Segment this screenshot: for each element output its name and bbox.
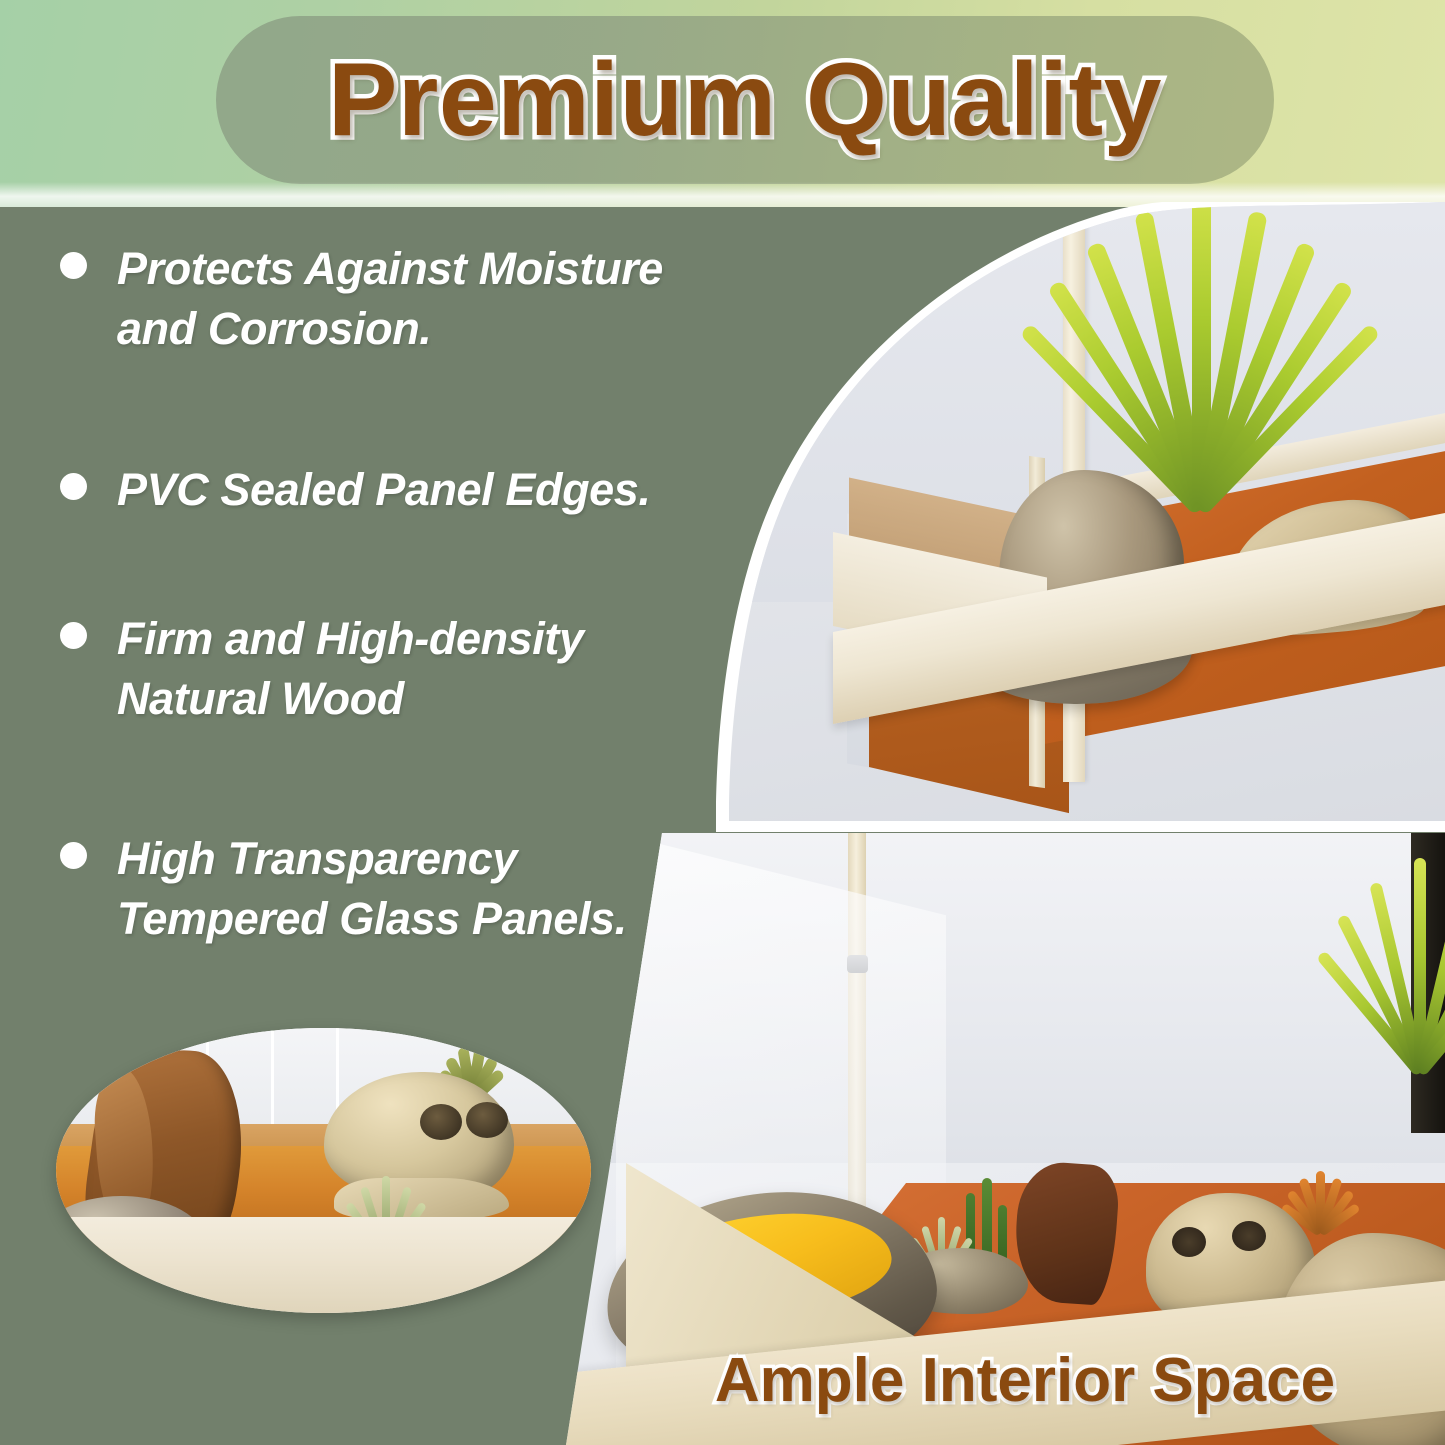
bullet-dot-icon (60, 252, 87, 279)
feature-text: Firm and High-density Natural Wood (117, 609, 700, 729)
product-photo-oval-inset (56, 1028, 591, 1313)
skull-eye-socket-left (1172, 1227, 1206, 1257)
header-banner: Premium Quality (0, 0, 1445, 208)
infographic-canvas: Premium Quality (0, 0, 1445, 1445)
list-item: Firm and High-density Natural Wood (60, 609, 700, 729)
feature-text: Protects Against Moisture and Corrosion. (117, 239, 700, 359)
list-item: Protects Against Moisture and Corrosion. (60, 239, 700, 359)
fern-plant-decor (1047, 202, 1337, 510)
bottom-caption: Ample Interior Space (620, 1336, 1430, 1424)
bullet-dot-icon (60, 473, 87, 500)
list-item: High Transparency Tempered Glass Panels. (60, 829, 700, 949)
list-item: PVC Sealed Panel Edges. (60, 460, 651, 520)
bullet-dot-icon (60, 842, 87, 869)
fern-plant-decor-wide (1374, 833, 1445, 1073)
skull-eye-socket-inset-left (420, 1104, 462, 1140)
bullet-dot-icon (60, 622, 87, 649)
inset-base-rail (56, 1217, 591, 1313)
page-title: Premium Quality (216, 16, 1274, 184)
feature-text: PVC Sealed Panel Edges. (117, 460, 651, 520)
feature-text: High Transparency Tempered Glass Panels. (117, 829, 700, 949)
skull-eye-socket-inset-right (466, 1102, 508, 1138)
skull-eye-socket-right (1232, 1221, 1266, 1251)
